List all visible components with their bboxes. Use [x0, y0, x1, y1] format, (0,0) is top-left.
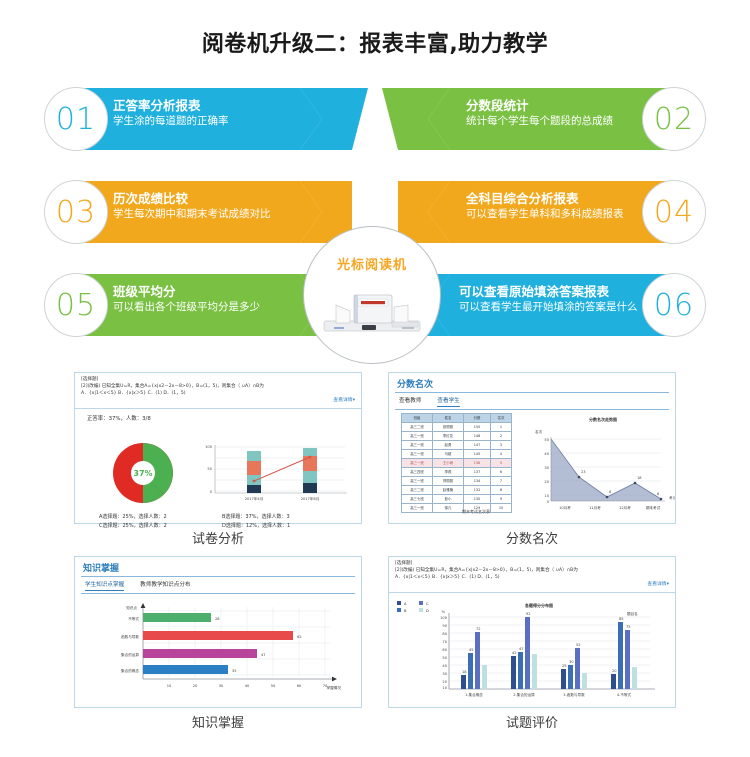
table-header-row: 班级 姓名 分数 名次 — [402, 414, 512, 423]
feature-title: 班级平均分 — [113, 284, 260, 299]
bar-value: 28 — [215, 617, 220, 621]
divider — [395, 409, 669, 410]
table-row: 高三一班马超1454 — [402, 450, 512, 459]
infographic-page: 阅卷机升级二：报表丰富,助力教学 光标阅读机 — [0, 0, 750, 757]
y-axis-label: 名次 — [535, 429, 543, 434]
feature-sub: 可以查看学生单科和多科成绩报表 — [466, 207, 624, 221]
tab-teacher-knowledge[interactable]: 教师教学知识点分布 — [140, 580, 190, 591]
donut-center-label: 37% — [133, 469, 152, 478]
question-box: [选择题] [2](改编) 已知全集U=R，集合A={x|x2－2x－8>0}，… — [75, 373, 361, 409]
bar-inequality — [143, 613, 211, 622]
question-line-1: [2](改编) 已知全集U=R，集合A={x|x2－2x－8>0}，B=(1，5… — [81, 383, 355, 390]
bar-value: 45 — [469, 648, 474, 652]
bar-value: 72 — [476, 627, 481, 631]
legend-c: C — [426, 602, 429, 606]
x-tick: 期末考试 — [646, 505, 661, 510]
bar-value: 92 — [526, 612, 531, 616]
donut-chart: 37% — [113, 443, 173, 503]
x-axis-label: 掌握情况 — [327, 685, 342, 690]
feature-text-02: 分数段统计 统计每个学生每个题段的总成绩 — [466, 98, 613, 128]
feature-title: 可以查看原始填涂答案报表 — [459, 284, 638, 299]
view-detail-link[interactable]: 查看详情▾ — [395, 581, 669, 589]
tab-view-teacher[interactable]: 查看教师 — [399, 396, 421, 407]
y-axis-label: % — [442, 610, 446, 614]
svg-text:80: 80 — [442, 632, 447, 636]
chart-note: 题目名 — [627, 611, 638, 616]
y-axis-label: 知识点 — [126, 605, 137, 610]
x-tick: 10 — [167, 684, 172, 688]
svg-text:20: 20 — [442, 680, 447, 684]
score-rank-tabs: 查看教师 查看学生 — [389, 393, 675, 409]
feature-number-04[interactable]: 04 — [642, 180, 706, 244]
bar-set-concept — [143, 665, 228, 674]
tab-student-knowledge[interactable]: 学生知识点掌握 — [85, 580, 124, 591]
bar-value: 35 — [232, 669, 237, 673]
table-row: 高三二班张丽丽1501 — [402, 423, 512, 432]
svg-text:100: 100 — [440, 616, 448, 620]
stacked-bar-chart: 2017年4月 2017年6月 100 50 0 — [205, 441, 347, 501]
bar-xtick: 2017年4月 — [245, 496, 264, 501]
svg-text:0: 0 — [547, 500, 550, 504]
question-line-1: [2](改编) 已知全集U=R，集合A={x|x2－2x－8>0}，B=(1，5… — [395, 567, 669, 574]
svg-text:50: 50 — [544, 438, 549, 442]
th-score: 分数 — [464, 414, 491, 423]
question-line-2: A．{x|1＜x＜5} B．{x|x＞5} C．(1) D．(1，5) — [395, 574, 669, 581]
x-tick: 10月考 — [559, 505, 571, 510]
x-tick: 20 — [193, 684, 198, 688]
svg-text:70: 70 — [442, 640, 447, 644]
table-row: 高三一班郑丽丽1347 — [402, 477, 512, 486]
x-tick: 11月考 — [589, 505, 601, 510]
table-row: 高三七班彭小1309 — [402, 495, 512, 504]
svg-text:30: 30 — [442, 672, 447, 676]
bar-value: 85 — [619, 617, 624, 621]
svg-text:40: 40 — [544, 452, 549, 456]
option-stat-row: A选择题：25%，选择人数：2 B选择题：37%，选择人数：3 — [99, 513, 345, 522]
y-tick: 集合的运算 — [121, 652, 139, 657]
feature-number-label: 05 — [56, 288, 96, 323]
feature-title: 分数段统计 — [466, 98, 613, 113]
chart-title: 分数名次走势图 — [589, 416, 617, 422]
scanner-machine-icon — [318, 281, 426, 341]
bar-xtick: 2017年6月 — [301, 496, 320, 501]
th-name: 姓名 — [433, 414, 464, 423]
center-label: 光标阅读机 — [303, 254, 441, 273]
x-tick: 1.集合概念 — [465, 692, 483, 697]
bar-value: 62 — [297, 635, 302, 639]
bar-value: 42 — [512, 651, 517, 655]
feature-number-label: 01 — [56, 102, 96, 137]
x-tick: 50 — [271, 684, 276, 688]
svg-text:10: 10 — [442, 686, 447, 690]
score-rank-heading: 分数名次 — [389, 373, 675, 392]
svg-text:90: 90 — [442, 624, 447, 628]
x-tick: 2.集合的运算 — [513, 692, 535, 697]
feature-number-label: 02 — [654, 102, 694, 137]
bar-value: 20 — [612, 669, 617, 673]
feature-text-06: 可以查看原始填涂答案报表 可以查看学生最开始填涂的答案是什么 — [459, 284, 638, 314]
x-tick: 3.函数与导数 — [563, 692, 585, 697]
legend-b: B — [404, 609, 407, 613]
score-rank-table[interactable]: 班级 姓名 分数 名次 高三二班张丽丽1501 高三一班李红花1482 高三一班… — [401, 413, 512, 513]
bar-value: 75 — [626, 625, 631, 629]
table-footer-label: 期末考试名次表 — [401, 509, 551, 515]
table-row: 高三一班赵勇1473 — [402, 441, 512, 450]
point-label: 18 — [637, 476, 642, 480]
bar-value: 25 — [562, 664, 567, 668]
y-tick: 集合的概念 — [121, 668, 139, 673]
y-tick: 不等式 — [128, 616, 139, 621]
knowledge-bar-chart: 知识点 不等式 — [75, 593, 361, 705]
feature-text-05: 班级平均分 可以看出各个班级平均分是多少 — [113, 284, 260, 314]
feature-sub: 统计每个学生每个题段的总成绩 — [466, 114, 613, 128]
panel-item-eval[interactable]: [选择题] [2](改编) 已知全集U=R，集合A={x|x2－2x－8>0}，… — [388, 556, 676, 708]
feature-sub: 学生涂的每道题的正确率 — [113, 114, 229, 128]
svg-text:50: 50 — [207, 467, 212, 471]
question-box: [选择题] [2](改编) 已知全集U=R，集合A={x|x2－2x－8>0}，… — [389, 557, 675, 593]
legend-a: A — [404, 602, 407, 606]
point-label: 8 — [609, 490, 612, 494]
caption-score-rank: 分数名次 — [388, 528, 676, 547]
feature-number-05[interactable]: 05 — [44, 273, 108, 337]
knowledge-heading: 知识掌握 — [75, 557, 361, 576]
item-eval-bar-chart: A C B D 各题得分分布图 题目名 % — [389, 595, 675, 707]
point-label: 23 — [581, 470, 586, 474]
caption-item-eval: 试题评价 — [388, 712, 676, 731]
th-class: 班级 — [402, 414, 433, 423]
feature-sub: 可以查看学生最开始填涂的答案是什么 — [459, 300, 638, 314]
bar-set-operation — [143, 649, 257, 658]
feature-sub: 学生每次期中和期末考试成绩对比 — [113, 207, 271, 221]
svg-text:30: 30 — [544, 466, 549, 470]
feature-number-label: 03 — [56, 195, 96, 230]
feature-title: 历次成绩比较 — [113, 191, 271, 206]
chart-legend: A C B D — [397, 601, 429, 613]
feature-text-01: 正答率分析报表 学生涂的每道题的正确率 — [113, 98, 229, 128]
svg-text:60: 60 — [442, 648, 447, 652]
correct-rate-text: 正答率：37%，人数：3/8 — [75, 409, 361, 422]
point-label: 6 — [657, 492, 660, 496]
page-title: 阅卷机升级二：报表丰富,助力教学 — [0, 26, 750, 58]
bar-value: 30 — [569, 660, 574, 664]
bar-value: 18 — [462, 670, 467, 674]
feature-diagram: 光标阅读机 01 02 03 04 05 — [0, 78, 750, 360]
bar-value: 47 — [519, 647, 524, 651]
panel-knowledge[interactable]: 知识掌握 学生知识点掌握 教师教学知识点分布 知识点 — [74, 556, 362, 708]
tab-view-student[interactable]: 查看学生 — [437, 396, 459, 407]
caption-knowledge: 知识掌握 — [74, 712, 362, 731]
question-line-2: A．{x|1＜x＜5} B．{x|x＞5} C．(1) D．(1，5) — [81, 390, 355, 397]
exam-analysis-charts: 37% — [75, 435, 361, 513]
feature-number-03[interactable]: 03 — [44, 180, 108, 244]
feature-title: 全科目综合分析报表 — [466, 191, 624, 206]
feature-sub: 可以看出各个班级平均分是多少 — [113, 300, 260, 314]
bar-function-derivative — [143, 631, 293, 640]
x-tick: 30 — [219, 684, 224, 688]
feature-number-06[interactable]: 06 — [642, 273, 706, 337]
feature-number-02[interactable]: 02 — [642, 87, 706, 151]
legend-d: D — [426, 609, 429, 613]
feature-text-03: 历次成绩比较 学生每次期中和期末考试成绩对比 — [113, 191, 271, 221]
caption-exam-analysis: 试卷分析 — [74, 528, 362, 547]
svg-text:10: 10 — [544, 494, 549, 498]
x-tick: 60 — [297, 684, 302, 688]
feature-number-01[interactable]: 01 — [44, 87, 108, 151]
feature-title: 正答率分析报表 — [113, 98, 229, 113]
th-rank: 名次 — [491, 414, 512, 423]
knowledge-tabs: 学生知识点掌握 教师教学知识点分布 — [75, 577, 361, 593]
table-row: 高三二班赵雅楠1328 — [402, 486, 512, 495]
table-row: 高三一班李红花1482 — [402, 432, 512, 441]
option-stat-b: B选择题：37%，选择人数：3 — [222, 513, 345, 522]
bar-value: 52 — [576, 643, 581, 647]
x-tick: 4.不等式 — [617, 692, 632, 697]
feature-number-label: 06 — [654, 288, 694, 323]
table-row: 高三四班李燕1376 — [402, 468, 512, 477]
x-axis-label: 考试 — [669, 495, 675, 500]
panel-exam-analysis[interactable]: [选择题] [2](改编) 已知全集U=R，集合A={x|x2－2x－8>0}，… — [74, 372, 362, 524]
view-detail-link[interactable]: 查看详情▾ — [81, 397, 355, 405]
svg-text:40: 40 — [442, 664, 447, 668]
x-tick: 40 — [245, 684, 250, 688]
svg-text:100: 100 — [205, 445, 213, 449]
x-tick: 12月考 — [619, 505, 631, 510]
option-stat-a: A选择题：25%，选择人数：2 — [99, 513, 222, 522]
score-trend-chart: 分数名次走势图 名次 23 8 18 6 50 40 30 2 — [525, 411, 675, 517]
bar-value: 47 — [261, 653, 266, 657]
y-tick: 函数与导数 — [121, 634, 139, 639]
panel-score-rank[interactable]: 分数名次 查看教师 查看学生 班级 姓名 分数 名次 高三二班张丽丽1501 高… — [388, 372, 676, 524]
chart-title: 各题得分分布图 — [524, 602, 553, 608]
svg-text:50: 50 — [442, 656, 447, 660]
feature-number-label: 04 — [654, 195, 694, 230]
feature-text-04: 全科目综合分析报表 可以查看学生单科和多科成绩报表 — [466, 191, 624, 221]
svg-text:20: 20 — [544, 480, 549, 484]
table-row-highlighted: 高三一班王小雨1385 — [402, 459, 512, 468]
